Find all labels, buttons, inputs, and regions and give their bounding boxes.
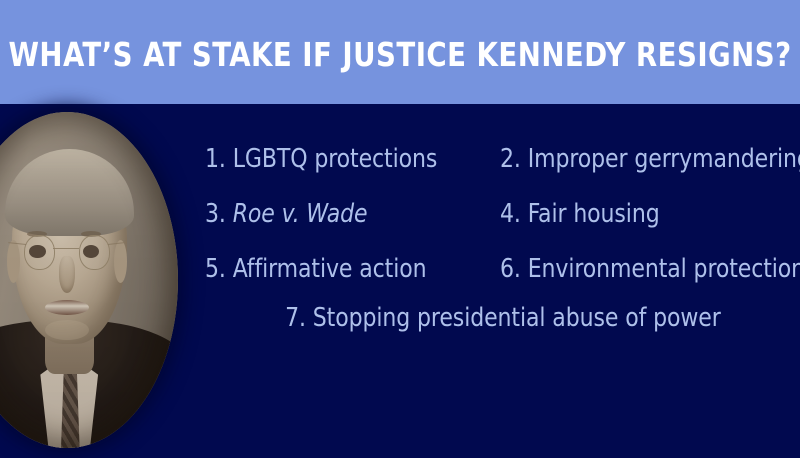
list-item: 3. Roe v. Wade [205, 201, 488, 228]
stakes-list-final-row: 7. Stopping presidential abuse of power [205, 303, 800, 333]
stakes-list-grid: 1. LGBTQ protections 2. Improper gerryma… [205, 132, 800, 297]
list-item-number: 7. [285, 303, 313, 333]
eyeglasses-lens-right [79, 235, 110, 271]
list-item: 2. Improper gerrymandering [500, 146, 788, 173]
list-item: 1. LGBTQ protections [205, 146, 488, 173]
list-item-label: LGBTQ protections [233, 144, 438, 174]
list-item-number: 4. [500, 199, 528, 229]
list-item-number: 1. [205, 144, 233, 174]
list-item-label: Environmental protection [528, 254, 800, 284]
list-item-number: 2. [500, 144, 528, 174]
list-item: 5. Affirmative action [205, 256, 488, 283]
list-item-number: 3. [205, 199, 233, 229]
eyeglasses-bridge [53, 248, 80, 254]
list-item-label: Roe v. Wade [233, 199, 368, 229]
header-band: WHAT’S AT STAKE IF JUSTICE KENNEDY RESIG… [0, 0, 800, 104]
social-graphic: WHAT’S AT STAKE IF JUSTICE KENNEDY RESIG… [0, 0, 800, 458]
list-item-number: 6. [500, 254, 528, 284]
list-item: 6. Environmental protection [500, 256, 788, 283]
eyeglasses-lens-left [24, 235, 55, 271]
list-item-label: Improper gerrymandering [528, 144, 800, 174]
portrait-oval-frame [0, 112, 178, 448]
body-area: 1. LGBTQ protections 2. Improper gerryma… [0, 104, 800, 458]
list-item: 7. Stopping presidential abuse of power [285, 303, 721, 333]
list-item: 4. Fair housing [500, 201, 788, 228]
list-item-label: Stopping presidential abuse of power [312, 303, 720, 333]
justice-portrait [0, 112, 178, 448]
list-item-number: 5. [205, 254, 233, 284]
nose [59, 256, 75, 293]
list-item-label: Affirmative action [233, 254, 427, 284]
page-title: WHAT’S AT STAKE IF JUSTICE KENNEDY RESIG… [8, 38, 791, 71]
list-item-label: Fair housing [528, 199, 660, 229]
stakes-list: 1. LGBTQ protections 2. Improper gerryma… [205, 132, 800, 382]
